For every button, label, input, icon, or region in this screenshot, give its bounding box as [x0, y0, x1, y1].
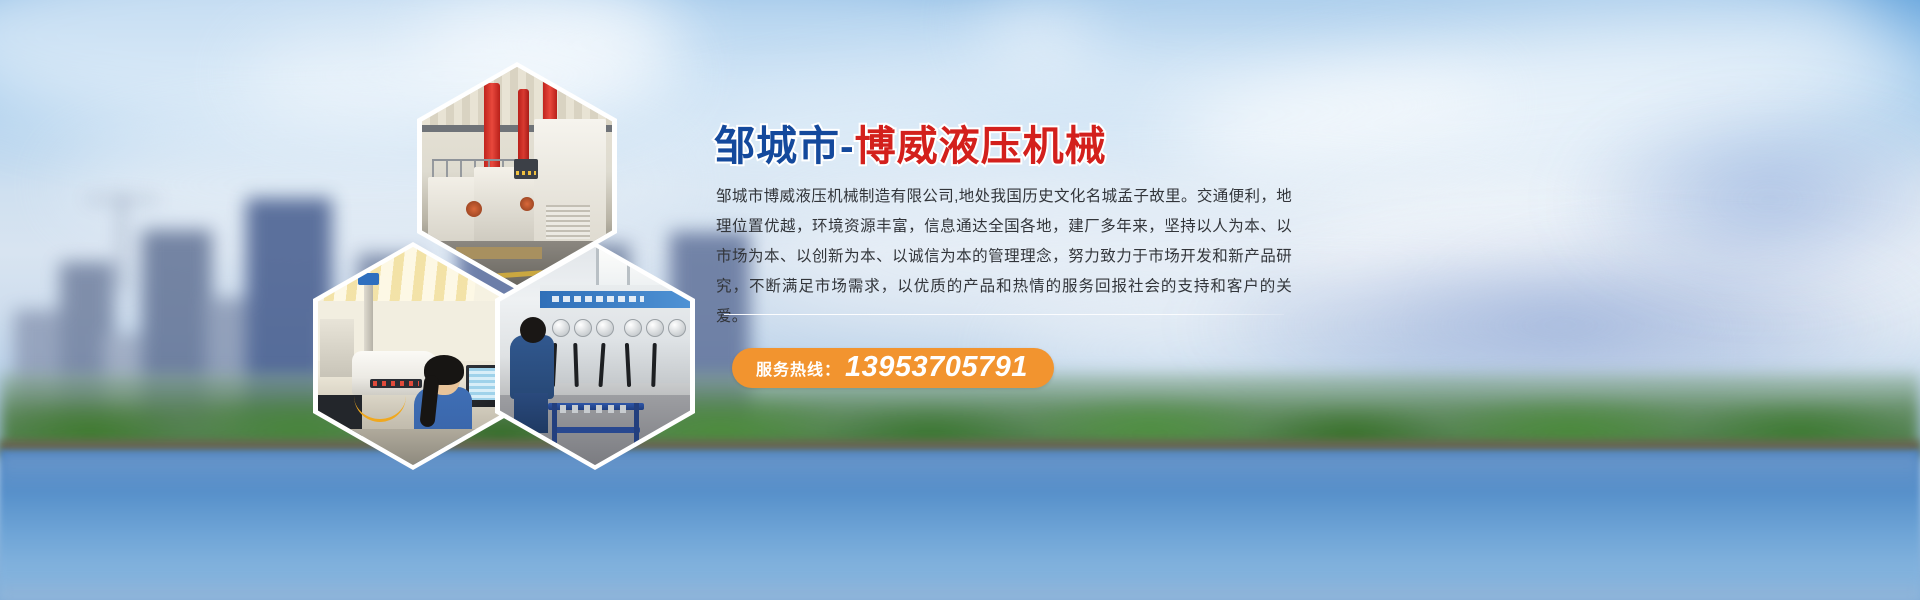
page-title: 邹城市-博威液压机械	[714, 112, 1107, 172]
sky-haze-band	[1560, 100, 1920, 300]
hotline-label: 服务热线：	[756, 356, 841, 380]
company-description: 邹城市博威液压机械制造有限公司,地处我国历史文化名城孟子故里。交通便利，地理位置…	[716, 182, 1292, 332]
banner-content: 邹城市-博威液压机械 邹城市博威液压机械制造有限公司,地处我国历史文化名城孟子故…	[714, 0, 1294, 600]
title-city-prefix: 邹城市-	[714, 123, 855, 169]
hotline-number[interactable]: 13953705791	[845, 353, 1028, 382]
crane-tower-icon	[120, 194, 124, 290]
hexagon-photo-cluster	[305, 62, 695, 432]
company-banner: 邹城市-博威液压机械 邹城市博威液压机械制造有限公司,地处我国历史文化名城孟子故…	[0, 0, 1920, 600]
title-company-name: 博威液压机械	[855, 123, 1107, 169]
section-divider	[724, 314, 1284, 315]
hotline-badge[interactable]: 服务热线： 13953705791	[732, 348, 1054, 388]
